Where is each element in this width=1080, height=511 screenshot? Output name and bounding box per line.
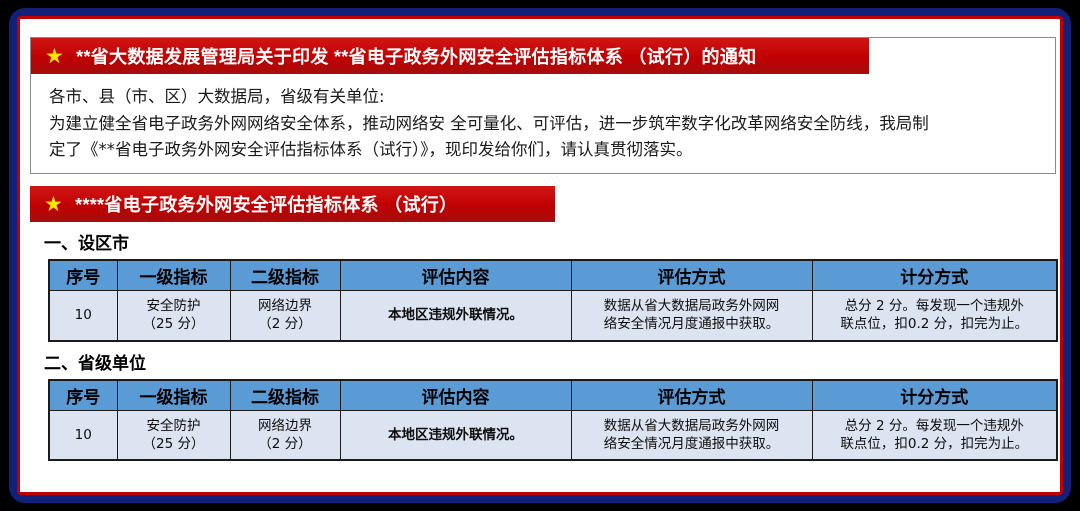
- cell-method-line2: 络安全情况月度通报中获取。: [576, 435, 808, 453]
- th-level1: 一级指标: [117, 260, 230, 291]
- th-content: 评估内容: [340, 260, 571, 291]
- cell-level2: 网络边界 （2 分）: [230, 291, 340, 341]
- cell-score-line1: 总分 2 分。每发现一个违规外: [817, 297, 1053, 315]
- standard-banner-title: ****省电子政务外网安全评估指标体系 （试行）: [75, 191, 457, 217]
- cell-level2-line2: （2 分）: [235, 435, 336, 453]
- cell-score-line2: 联点位，扣0.2 分，扣完为止。: [817, 315, 1053, 333]
- th-method: 评估方式: [571, 260, 812, 291]
- star-icon: ★: [44, 194, 63, 215]
- table-row: 10 安全防护 （25 分） 网络边界 （2 分） 本地区违规外联情况。 数据从…: [49, 291, 1057, 341]
- cell-level2-line1: 网络边界: [235, 417, 336, 435]
- cell-level1-line2: （25 分）: [122, 435, 226, 453]
- standard-banner: ★ ****省电子政务外网安全评估指标体系 （试行）: [30, 186, 555, 222]
- cell-level1: 安全防护 （25 分）: [117, 410, 230, 460]
- th-method: 评估方式: [571, 380, 812, 411]
- cell-level1-line1: 安全防护: [122, 297, 226, 315]
- cell-seq: 10: [49, 410, 117, 460]
- evaluation-table-city: 序号 一级指标 二级指标 评估内容 评估方式 计分方式 10 安全防护 （25 …: [48, 259, 1058, 342]
- notice-line-2: 为建立健全省电子政务外网网络安全体系，推动网络安 全可量化、可评估，进一步筑牢数…: [49, 111, 1039, 138]
- section-heading-2: 二、省级单位: [30, 342, 1056, 379]
- cell-method: 数据从省大数据局政务外网网 络安全情况月度通报中获取。: [571, 410, 812, 460]
- cell-level1-line2: （25 分）: [122, 315, 226, 333]
- cell-method-line1: 数据从省大数据局政务外网网: [576, 417, 808, 435]
- notice-line-3: 定了《**省电子政务外网安全评估指标体系（试行）》，现印发给你们，请认真贯彻落实…: [49, 137, 1039, 164]
- cell-seq: 10: [49, 291, 117, 341]
- table-header-row: 序号 一级指标 二级指标 评估内容 评估方式 计分方式: [49, 380, 1057, 411]
- cell-method: 数据从省大数据局政务外网网 络安全情况月度通报中获取。: [571, 291, 812, 341]
- table-row: 10 安全防护 （25 分） 网络边界 （2 分） 本地区违规外联情况。 数据从…: [49, 410, 1057, 460]
- cell-level2-line2: （2 分）: [235, 315, 336, 333]
- cell-method-line2: 络安全情况月度通报中获取。: [576, 315, 808, 333]
- cell-level2: 网络边界 （2 分）: [230, 410, 340, 460]
- th-score: 计分方式: [812, 260, 1057, 291]
- th-seq: 序号: [49, 380, 117, 411]
- notice-banner: ★ **省大数据发展管理局关于印发 **省电子政务外网安全评估指标体系 （试行）…: [31, 38, 869, 74]
- cell-content: 本地区违规外联情况。: [340, 410, 571, 460]
- cell-score-line1: 总分 2 分。每发现一个违规外: [817, 417, 1053, 435]
- th-seq: 序号: [49, 260, 117, 291]
- cell-level1-line1: 安全防护: [122, 417, 226, 435]
- th-level2: 二级指标: [230, 380, 340, 411]
- cell-score-line2: 联点位，扣0.2 分，扣完为止。: [817, 435, 1053, 453]
- table-header-row: 序号 一级指标 二级指标 评估内容 评估方式 计分方式: [49, 260, 1057, 291]
- notice-line-1: 各市、县（市、区）大数据局，省级有关单位:: [49, 84, 1039, 111]
- th-score: 计分方式: [812, 380, 1057, 411]
- notice-body: 各市、县（市、区）大数据局，省级有关单位: 为建立健全省电子政务外网网络安全体系…: [31, 74, 1055, 172]
- evaluation-table-province: 序号 一级指标 二级指标 评估内容 评估方式 计分方式 10 安全防护 （25 …: [48, 379, 1058, 462]
- notice-banner-title: **省大数据发展管理局关于印发 **省电子政务外网安全评估指标体系 （试行）的通…: [76, 43, 756, 69]
- star-icon: ★: [45, 46, 64, 67]
- slide-inner-frame: ★ **省大数据发展管理局关于印发 **省电子政务外网安全评估指标体系 （试行）…: [17, 16, 1063, 495]
- th-level2: 二级指标: [230, 260, 340, 291]
- cell-level2-line1: 网络边界: [235, 297, 336, 315]
- cell-score: 总分 2 分。每发现一个违规外 联点位，扣0.2 分，扣完为止。: [812, 410, 1057, 460]
- standard-card: ★ ****省电子政务外网安全评估指标体系 （试行） 一、设区市 序号 一级指标…: [30, 186, 1056, 495]
- th-content: 评估内容: [340, 380, 571, 411]
- notice-card: ★ **省大数据发展管理局关于印发 **省电子政务外网安全评估指标体系 （试行）…: [30, 37, 1056, 174]
- cell-method-line1: 数据从省大数据局政务外网网: [576, 297, 808, 315]
- slide-outer-frame: ★ **省大数据发展管理局关于印发 **省电子政务外网安全评估指标体系 （试行）…: [9, 8, 1071, 503]
- cell-level1: 安全防护 （25 分）: [117, 291, 230, 341]
- th-level1: 一级指标: [117, 380, 230, 411]
- section-heading-1: 一、设区市: [30, 222, 1056, 259]
- cell-content: 本地区违规外联情况。: [340, 291, 571, 341]
- cell-score: 总分 2 分。每发现一个违规外 联点位，扣0.2 分，扣完为止。: [812, 291, 1057, 341]
